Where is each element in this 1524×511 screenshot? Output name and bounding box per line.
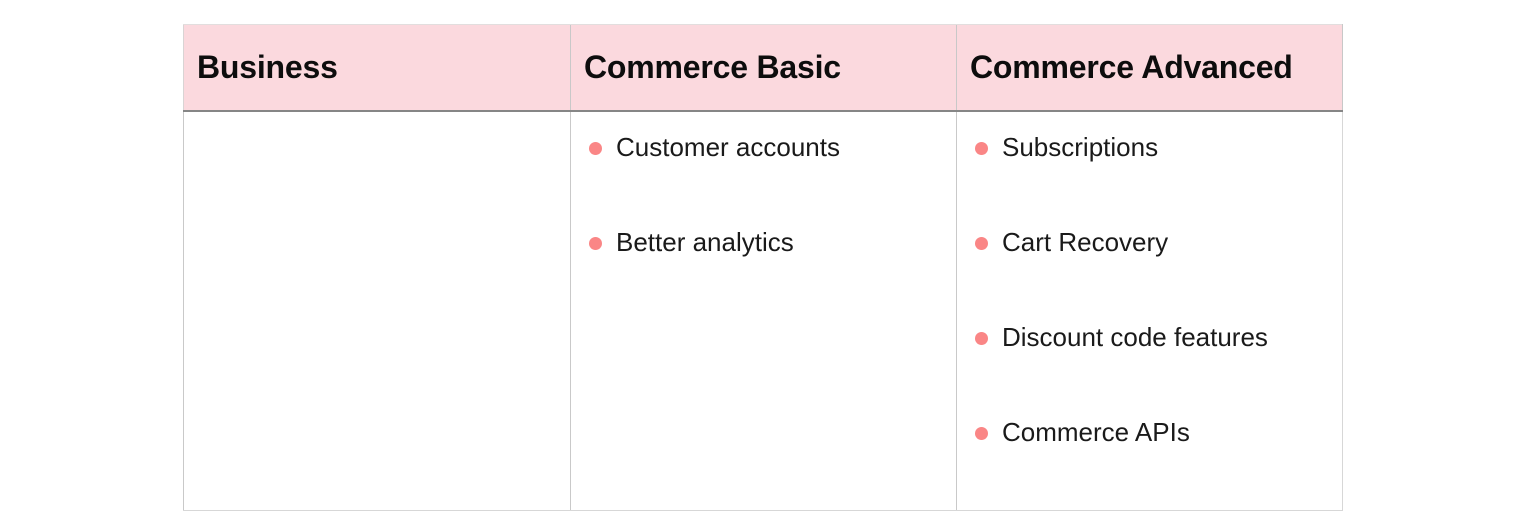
column-header-commerce-basic: Commerce Basic (571, 25, 957, 111)
table-header: Business Commerce Basic Commerce Advance… (184, 25, 1343, 111)
page-root: Business Commerce Basic Commerce Advance… (0, 0, 1524, 492)
list-item: Cart Recovery (957, 225, 1342, 320)
bullet-dot-icon (589, 237, 602, 250)
list-item: Better analytics (571, 225, 956, 320)
column-header-commerce-advanced: Commerce Advanced (957, 25, 1343, 111)
bullet-dot-icon (975, 142, 988, 155)
list-item: Subscriptions (957, 130, 1342, 225)
feature-list-business (184, 112, 570, 130)
feature-label: Subscriptions (1002, 130, 1158, 164)
feature-label: Discount code features (1002, 320, 1268, 354)
feature-list-commerce-advanced: Subscriptions Cart Recovery Discount cod… (957, 112, 1342, 510)
table-row: Customer accounts Better analytics Subsc… (184, 111, 1343, 511)
feature-list-commerce-basic: Customer accounts Better analytics (571, 112, 956, 320)
table-header-row: Business Commerce Basic Commerce Advance… (184, 25, 1343, 111)
feature-label: Commerce APIs (1002, 415, 1190, 449)
cell-business-features (184, 111, 571, 511)
list-item: Commerce APIs (957, 415, 1342, 510)
table-body: Customer accounts Better analytics Subsc… (184, 111, 1343, 511)
list-item: Discount code features (957, 320, 1342, 415)
feature-label: Customer accounts (616, 130, 840, 164)
bullet-dot-icon (589, 142, 602, 155)
cell-commerce-advanced-features: Subscriptions Cart Recovery Discount cod… (957, 111, 1343, 511)
column-header-business: Business (184, 25, 571, 111)
cell-commerce-basic-features: Customer accounts Better analytics (571, 111, 957, 511)
bullet-dot-icon (975, 427, 988, 440)
bullet-dot-icon (975, 332, 988, 345)
list-item: Customer accounts (571, 130, 956, 225)
feature-label: Better analytics (616, 225, 794, 259)
plan-comparison-table: Business Commerce Basic Commerce Advance… (183, 24, 1343, 511)
feature-label: Cart Recovery (1002, 225, 1168, 259)
bullet-dot-icon (975, 237, 988, 250)
